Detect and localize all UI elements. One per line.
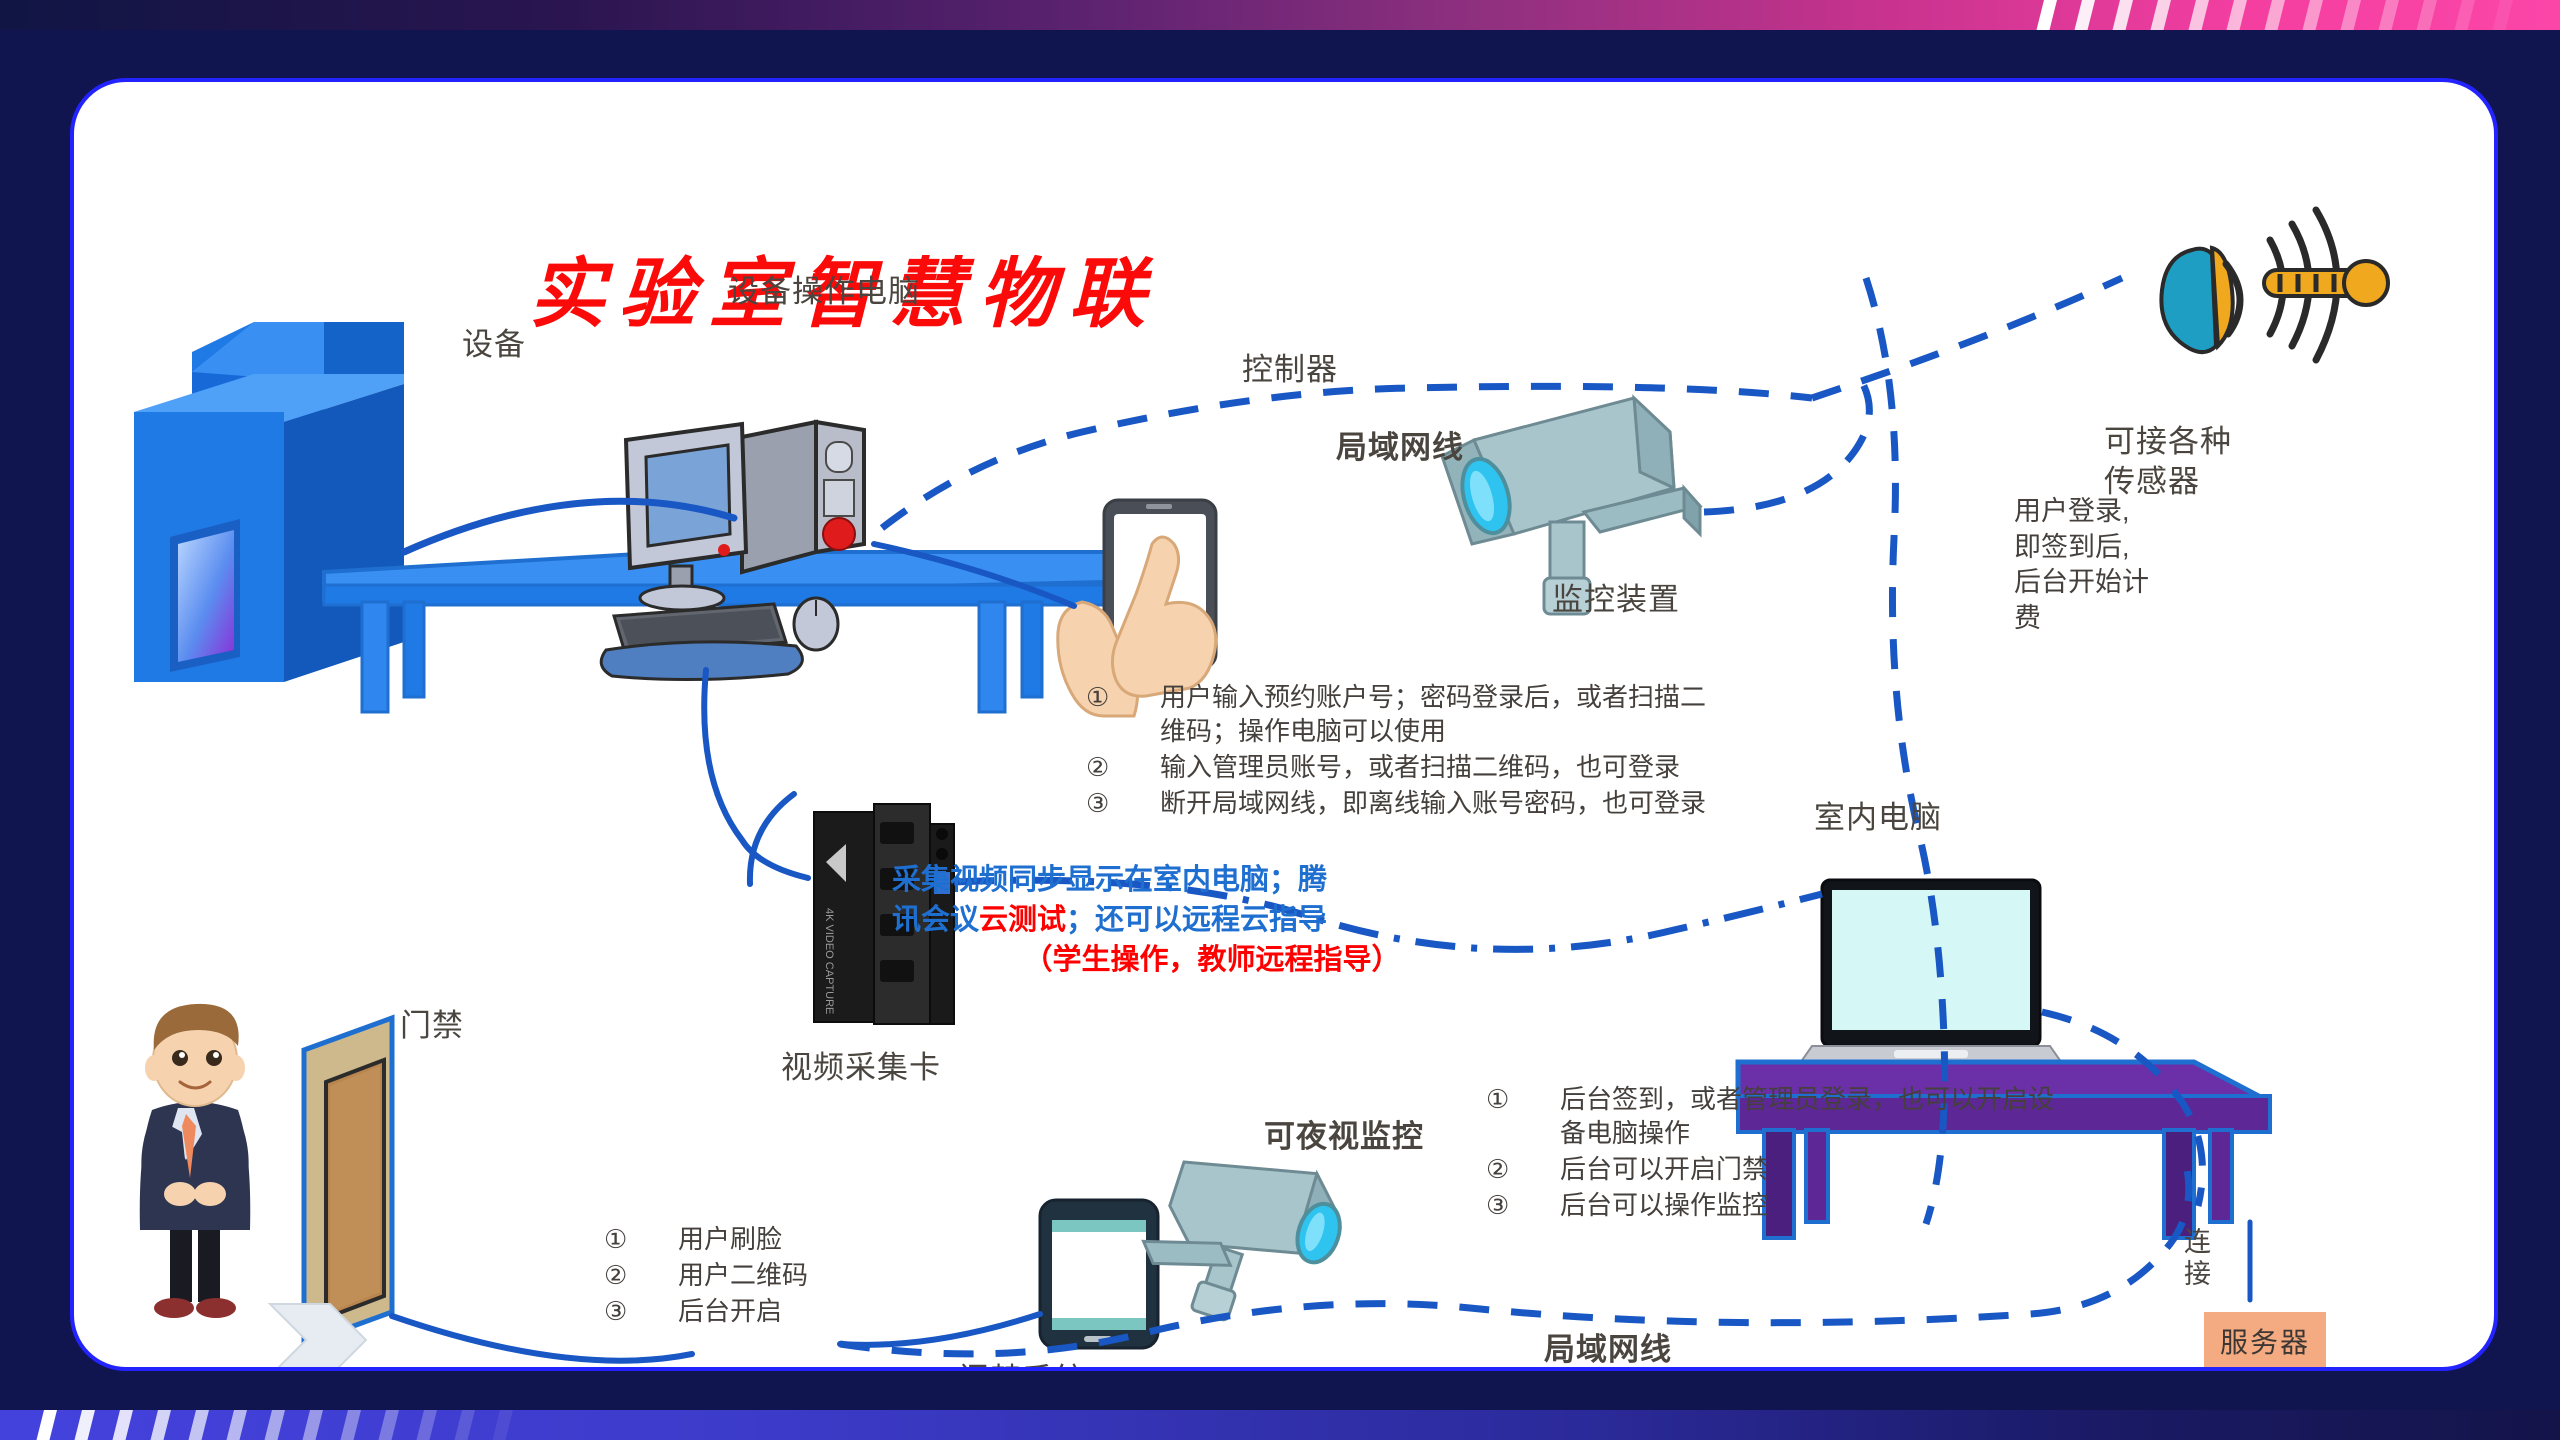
decorative-slash	[301, 1410, 324, 1440]
person-art	[140, 1004, 251, 1318]
decorative-slash	[491, 1410, 514, 1440]
slide-canvas: 实验室智慧物联	[0, 0, 2560, 1440]
capture-text-a: 采集视频同步显示在室内电脑；腾	[892, 864, 1327, 896]
decorative-slash	[2035, 0, 2058, 30]
decorative-slash	[2377, 0, 2400, 30]
list-door-item-number: ②	[604, 1258, 678, 1292]
list-door-item-number: ③	[604, 1294, 678, 1328]
label-equipment: 设备	[462, 327, 526, 364]
list-backend: ①后台签到，或者管理员登录，也可以开启设 备电脑操作②后台可以开启门禁③后台可以…	[1486, 1082, 2166, 1224]
list-backend-item-text: 后台可以开启门禁	[1560, 1152, 2166, 1186]
list-door: ①用户刷脸②用户二维码③后台开启	[604, 1222, 1024, 1330]
list-door-item-row: ②用户二维码	[604, 1258, 1024, 1292]
decorative-slash	[2339, 0, 2362, 30]
label-controller: 控制器	[1242, 352, 1338, 389]
decorative-slash	[2073, 0, 2096, 30]
label-monitoring-device: 监控装置	[1552, 582, 1680, 619]
label-operation-computer: 设备操作电脑	[728, 274, 920, 311]
decorative-slash	[2149, 0, 2172, 30]
list-equipment-item-number: ②	[1086, 750, 1160, 784]
top-slash-pattern	[2000, 0, 2560, 30]
decorative-slash	[2225, 0, 2248, 30]
content-card: 实验室智慧物联	[70, 78, 2498, 1371]
list-equipment-item-row: ③断开局域网线，即离线输入账号密码，也可登录	[1086, 786, 1786, 820]
list-door-item-text: 用户二维码	[678, 1258, 1024, 1292]
decorative-slash	[415, 1410, 438, 1440]
label-sensor-note: 可接各种 传感器	[2104, 422, 2232, 503]
list-door-item-number: ①	[604, 1222, 678, 1256]
decorative-slash	[187, 1410, 210, 1440]
decorative-slash	[2263, 0, 2286, 30]
decorative-slash	[2491, 0, 2514, 30]
decorative-slash	[2301, 0, 2324, 30]
list-backend-item-text: 后台签到，或者管理员登录，也可以开启设 备电脑操作	[1560, 1082, 2166, 1150]
decorative-slash	[2187, 0, 2210, 30]
note-billing: 用户登录, 即签到后, 后台开始计 费	[2014, 494, 2149, 637]
list-equipment-item-number: ①	[1086, 680, 1160, 714]
label-lan-bottom: 局域网线	[1544, 1332, 1672, 1369]
label-lan-top: 局域网线	[1336, 430, 1464, 467]
decorative-slash	[339, 1410, 362, 1440]
list-backend-item-row: ③后台可以操作监控	[1486, 1188, 2166, 1222]
decorative-slash	[35, 1410, 58, 1440]
decorative-slash	[2453, 0, 2476, 30]
decorative-slash	[2111, 0, 2134, 30]
door-art	[304, 1018, 392, 1344]
label-night-vision: 可夜视监控	[1264, 1119, 1424, 1156]
list-equipment-item-text: 断开局域网线，即离线输入账号密码，也可登录	[1160, 786, 1786, 820]
desktop-computer-art	[601, 422, 864, 680]
label-video-capture-card: 视频采集卡	[781, 1050, 941, 1087]
list-equipment-item-text: 用户输入预约账户号；密码登录后，或者扫描二 维码；操作电脑可以使用	[1160, 680, 1786, 748]
list-equipment-item-text: 输入管理员账号，或者扫描二维码，也可登录	[1160, 750, 1786, 784]
list-backend-item-number: ①	[1486, 1082, 1560, 1116]
laptop-art	[1798, 880, 2064, 1066]
list-door-item-text: 后台开启	[678, 1294, 1024, 1328]
door-tablet-art	[1040, 1200, 1158, 1348]
decorative-slash	[377, 1410, 400, 1440]
decorative-slash	[73, 1410, 96, 1440]
bottom-slash-pattern	[0, 1410, 560, 1440]
decorative-slash	[225, 1410, 248, 1440]
server-box[interactable]: 服务器	[2204, 1312, 2326, 1370]
decorative-slash	[263, 1410, 286, 1440]
list-equipment-item-row: ①用户输入预约账户号；密码登录后，或者扫描二 维码；操作电脑可以使用	[1086, 680, 1786, 748]
list-door-item-row: ①用户刷脸	[604, 1222, 1024, 1256]
svg-text:4K VIDEO CAPTURE: 4K VIDEO CAPTURE	[823, 908, 835, 1014]
capture-text-c: ；还可以远程云指导	[1066, 904, 1327, 936]
decorative-slash	[2415, 0, 2438, 30]
list-door-item-row: ③后台开启	[604, 1294, 1024, 1328]
list-equipment: ①用户输入预约账户号；密码登录后，或者扫描二 维码；操作电脑可以使用②输入管理员…	[1086, 680, 1786, 822]
list-equipment-item-row: ②输入管理员账号，或者扫描二维码，也可登录	[1086, 750, 1786, 784]
decorative-slash	[111, 1410, 134, 1440]
label-indoor-computer: 室内电脑	[1814, 800, 1942, 837]
list-door-item-text: 用户刷脸	[678, 1222, 1024, 1256]
cctv-camera-bottom-art	[1128, 1129, 1355, 1346]
list-backend-item-number: ②	[1486, 1152, 1560, 1186]
list-backend-item-row: ①后台签到，或者管理员登录，也可以开启设 备电脑操作	[1486, 1082, 2166, 1150]
capture-text-red: 云测试	[979, 904, 1066, 936]
satellite-sensor-art	[2161, 210, 2388, 360]
list-equipment-item-number: ③	[1086, 786, 1160, 820]
label-door-access: 门禁	[400, 1008, 464, 1045]
capture-text-b: 讯会议	[892, 904, 979, 936]
label-connect: 连 接	[2184, 1227, 2211, 1291]
list-backend-item-text: 后台可以操作监控	[1560, 1188, 2166, 1222]
decorative-slash	[149, 1410, 172, 1440]
list-backend-item-number: ③	[1486, 1188, 1560, 1222]
list-backend-item-row: ②后台可以开启门禁	[1486, 1152, 2166, 1186]
note-capture-callout: 采集视频同步显示在室内电脑；腾 讯会议云测试；还可以远程云指导 （学生操作，教师…	[892, 860, 1532, 980]
capture-text-paren: （学生操作，教师远程指导）	[1023, 944, 1400, 976]
decorative-slash	[453, 1410, 476, 1440]
label-door-access-system: 门禁系统	[958, 1362, 1086, 1371]
